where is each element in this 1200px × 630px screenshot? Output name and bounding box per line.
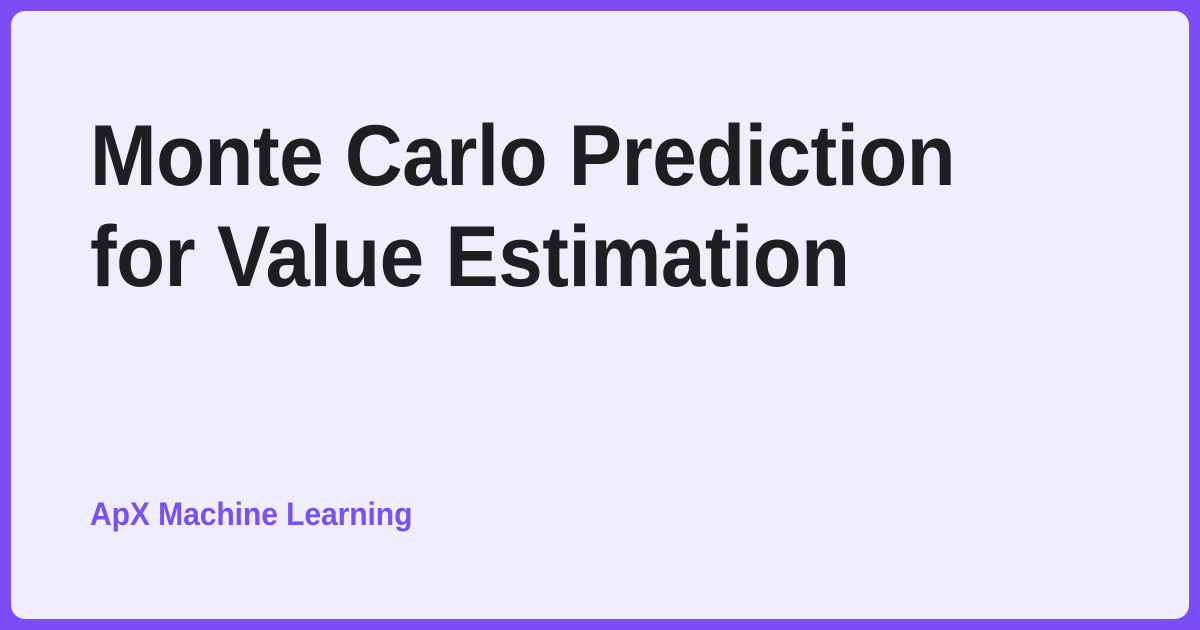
card-content: Monte Carlo Prediction for Value Estimat… (90, 11, 1110, 619)
brand-name: ApX Machine Learning (90, 494, 412, 534)
page-title: Monte Carlo Prediction for Value Estimat… (90, 106, 1039, 308)
og-card-surface: Monte Carlo Prediction for Value Estimat… (11, 11, 1189, 619)
brand-block: ApX Machine Learning (90, 494, 433, 534)
title-block: Monte Carlo Prediction for Value Estimat… (90, 106, 1110, 308)
og-card: Monte Carlo Prediction for Value Estimat… (0, 0, 1200, 630)
